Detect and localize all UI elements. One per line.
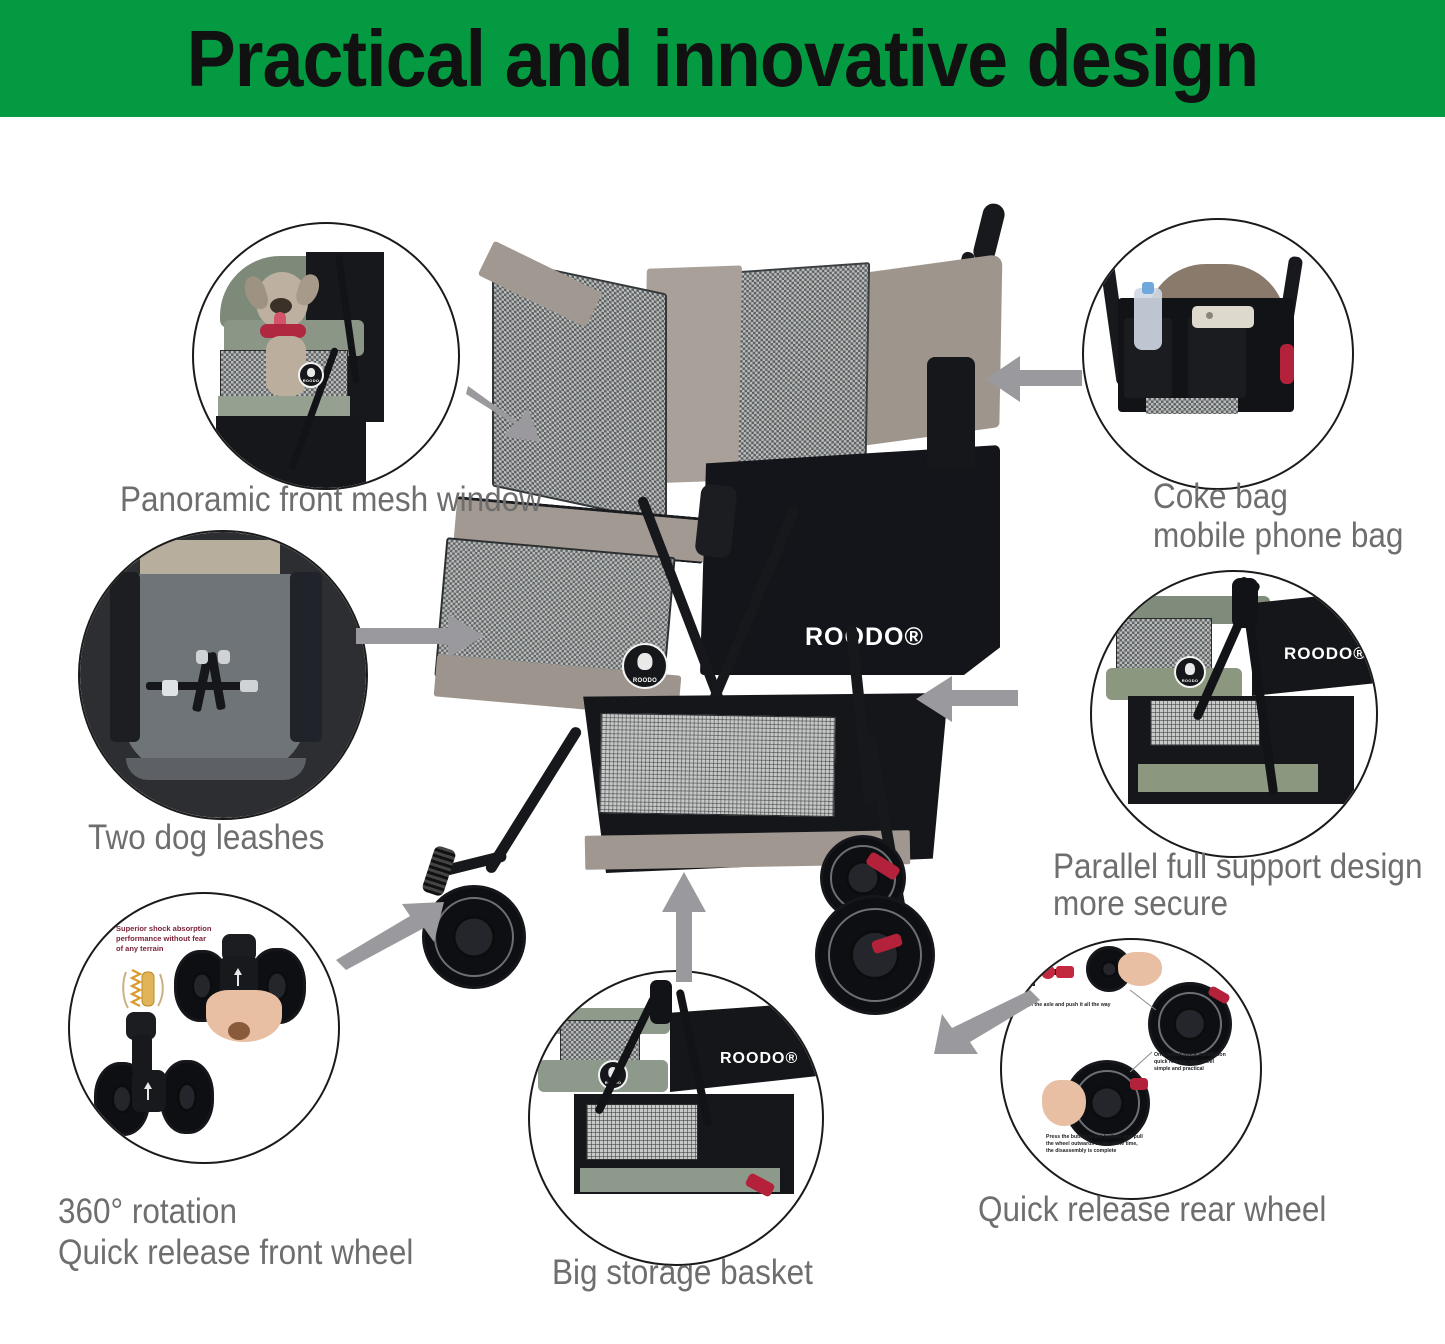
- inset-two-dog-leashes[interactable]: [78, 530, 368, 820]
- product-brand-logo: ROODO®: [805, 623, 924, 652]
- caption-big-storage-basket: Big storage basket: [552, 1253, 813, 1294]
- caption-360-rotation: 360° rotation: [58, 1192, 237, 1233]
- hub-badge-icon: ROODO: [622, 643, 668, 689]
- arrow-to-front-wheel: [336, 898, 448, 970]
- leader-lines: [1002, 940, 1260, 1198]
- inset-coke-bag-mobile-phone-bag[interactable]: [1082, 218, 1354, 490]
- caption-more-secure: more secure: [1053, 884, 1228, 925]
- inset-4-photo: ROODO® ROODO: [530, 972, 822, 1264]
- mobile-phone-icon: [1192, 306, 1254, 328]
- inset-5-photo: [1084, 220, 1352, 488]
- frame-joint-hub: [694, 483, 737, 558]
- spine-spring-illustration: [120, 968, 170, 1012]
- inset-1-photo: ROODO: [194, 224, 458, 488]
- inset-2-photo: [80, 532, 366, 818]
- inset-big-storage-basket[interactable]: ROODO® ROODO: [528, 970, 824, 1266]
- inset-parallel-full-support-design[interactable]: ROODO® ROODO: [1090, 570, 1378, 858]
- caption-coke-bag: Coke bag: [1153, 477, 1288, 518]
- inset-3-photo: Superior shock absorption performance wi…: [70, 894, 338, 1162]
- storage-basket-mesh: [599, 713, 836, 817]
- arrow-to-rear-wheel: [930, 990, 1040, 1060]
- caption-quick-release-front-wheel: Quick release front wheel: [58, 1233, 413, 1274]
- rear-wheel-large: [815, 895, 935, 1015]
- caption-quick-release-rear-wheel: Quick release rear wheel: [978, 1190, 1326, 1231]
- caption-mobile-phone-bag: mobile phone bag: [1153, 516, 1403, 557]
- arrow-to-leashes: [356, 608, 486, 666]
- inset-7-photo: Align the axle and push it all the way O…: [1002, 940, 1260, 1198]
- page-title: Practical and innovative design: [187, 19, 1259, 99]
- infographic-page: Practical and innovative design ROODO® R…: [0, 0, 1445, 1344]
- hub-badge-label: ROODO: [633, 678, 657, 684]
- arrow-to-coke-bag: [986, 352, 1082, 408]
- header-banner: Practical and innovative design: [0, 0, 1445, 117]
- inset-quick-release-front-wheel[interactable]: Superior shock absorption performance wi…: [68, 892, 340, 1164]
- inset-6-photo: ROODO® ROODO: [1092, 572, 1376, 856]
- water-bottle-icon: [1134, 288, 1162, 350]
- caption-parallel-full-support-design: Parallel full support design: [1053, 847, 1422, 888]
- arrow-to-parallel-support: [916, 672, 1018, 728]
- inset-quick-release-rear-wheel[interactable]: Align the axle and push it all the way O…: [1000, 938, 1262, 1200]
- arrow-to-storage-basket: [660, 872, 708, 982]
- rear-wheel-large-rim: [828, 908, 922, 1002]
- inset-panoramic-front-mesh-window[interactable]: ROODO: [192, 222, 460, 490]
- caption-two-dog-leashes: Two dog leashes: [88, 818, 324, 859]
- side-pocket: [927, 357, 975, 469]
- product-stroller-image: ROODO® ROODO: [400, 195, 1020, 1005]
- arrow-to-mesh-window: [466, 380, 546, 450]
- inset-3-note: Superior shock absorption performance wi…: [116, 924, 236, 954]
- caption-panoramic-front-mesh-window: Panoramic front mesh window: [120, 480, 542, 521]
